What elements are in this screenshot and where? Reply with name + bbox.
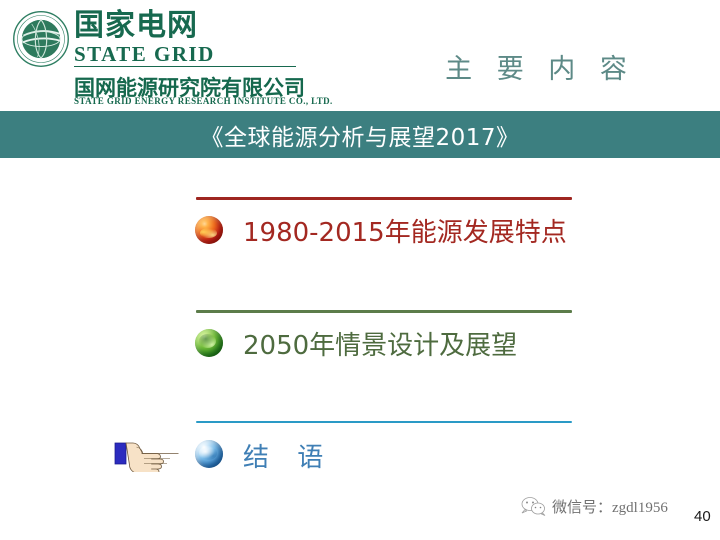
institute-name-en: STATE GRID ENERGY RESEARCH INSTITUTE CO.… xyxy=(74,96,333,106)
page-number: 40 xyxy=(694,508,711,525)
state-grid-emblem-icon xyxy=(12,10,70,68)
content-item-1-rule xyxy=(196,197,572,200)
green-globe-icon xyxy=(195,329,223,357)
brand-divider xyxy=(74,66,296,67)
red-globe-icon xyxy=(195,216,223,244)
page-title: 主 要 内 容 xyxy=(400,47,680,86)
content-item-1-label[interactable]: 1980-2015年能源发展特点 xyxy=(243,212,567,249)
content-item-3-label[interactable]: 结 语 xyxy=(243,437,333,474)
brand-logo-block: 国家电网 STATE GRID 国网能源研究院有限公司 STATE GRID E… xyxy=(8,4,308,112)
slide-canvas: 国家电网 STATE GRID 国网能源研究院有限公司 STATE GRID E… xyxy=(0,0,720,540)
brand-name-cn: 国家电网 xyxy=(74,10,302,42)
content-item-3-rule xyxy=(196,421,572,423)
report-title-banner: 《全球能源分析与展望2017》 xyxy=(0,111,720,158)
pointing-hand-icon xyxy=(114,432,180,472)
blue-globe-icon xyxy=(195,440,223,468)
wechat-id-text: 微信号：zgdl1956 xyxy=(552,496,668,517)
brand-text-group: 国家电网 STATE GRID xyxy=(74,10,302,65)
wechat-watermark: 微信号：zgdl1956 xyxy=(520,492,690,520)
brand-name-en: STATE GRID xyxy=(74,43,302,65)
content-item-2-label[interactable]: 2050年情景设计及展望 xyxy=(243,325,517,362)
content-item-2-rule xyxy=(196,310,572,313)
wechat-icon xyxy=(520,495,546,517)
report-title-text: 《全球能源分析与展望2017》 xyxy=(200,118,519,152)
